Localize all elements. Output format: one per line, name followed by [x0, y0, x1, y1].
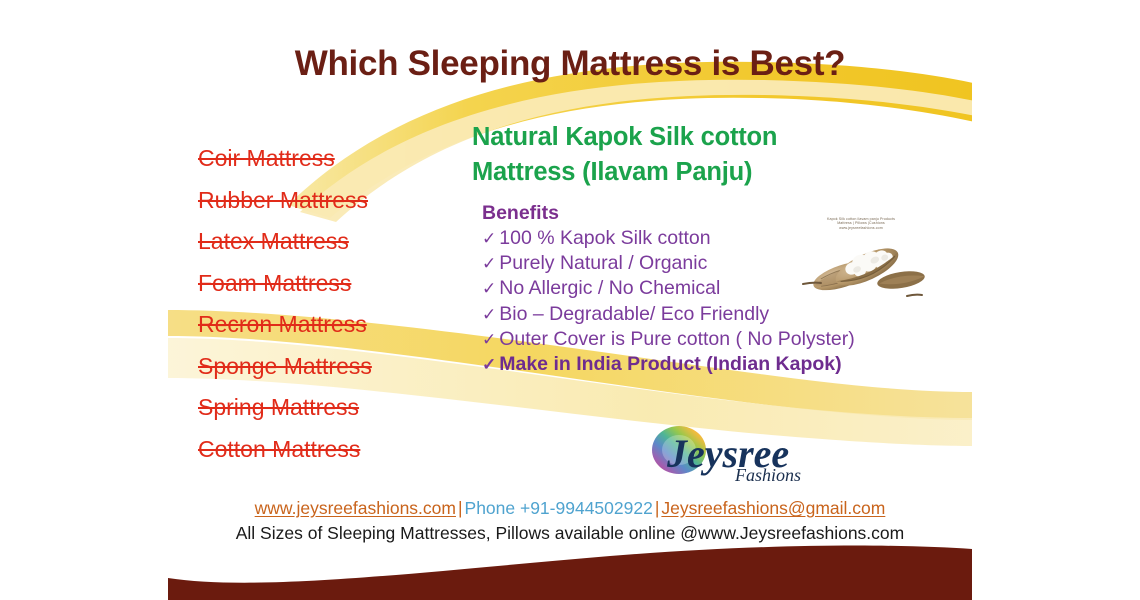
footer-contact-line: www.jeysreefashions.com|Phone +91-994450…	[168, 496, 972, 521]
footer-separator-1: |	[456, 498, 465, 518]
check-icon: ✓	[482, 352, 496, 377]
jeysree-fashions-logo: Jeysree Fashions	[643, 423, 853, 485]
website-link[interactable]: www.jeysreefashions.com	[255, 498, 456, 518]
benefit-label: Outer Cover is Pure cotton ( No Polyster…	[499, 327, 854, 352]
product-heading: Natural Kapok Silk cotton Mattress (Ilav…	[472, 120, 942, 190]
poster-canvas: Which Sleeping Mattress is Best? Coir Ma…	[0, 0, 1140, 600]
footer: www.jeysreefashions.com|Phone +91-994450…	[168, 496, 972, 546]
list-item: Rubber Mattress	[198, 180, 448, 222]
rejected-mattress-list: Coir Mattress Rubber Mattress Latex Matt…	[198, 138, 448, 470]
check-icon: ✓	[482, 302, 496, 327]
check-icon: ✓	[482, 251, 496, 276]
benefit-label: 100 % Kapok Silk cotton	[499, 226, 710, 251]
email-link[interactable]: Jeysreefashions@gmail.com	[661, 498, 885, 518]
benefit-item: ✓ Make in India Product (Indian Kapok)	[482, 352, 942, 377]
list-item: Coir Mattress	[198, 138, 448, 180]
list-item: Cotton Mattress	[198, 429, 448, 471]
benefit-label: No Allergic / No Chemical	[499, 276, 720, 301]
benefit-label: Make in India Product (Indian Kapok)	[499, 352, 841, 377]
check-icon: ✓	[482, 226, 496, 251]
footer-tagline: All Sizes of Sleeping Mattresses, Pillow…	[168, 521, 972, 546]
phone-number: Phone +91-9944502922	[465, 498, 653, 518]
photo-watermark-caption: Kapok Silk cotton ilavam panju Products …	[801, 217, 921, 230]
benefit-item: ✓ Outer Cover is Pure cotton ( No Polyst…	[482, 327, 942, 352]
list-item: Recron Mattress	[198, 304, 448, 346]
list-item: Foam Mattress	[198, 263, 448, 305]
product-heading-line2: Mattress (Ilavam Panju)	[472, 155, 942, 190]
product-heading-line1: Natural Kapok Silk cotton	[472, 120, 942, 155]
list-item: Sponge Mattress	[198, 346, 448, 388]
bottom-maroon-wave	[168, 546, 972, 600]
check-icon: ✓	[482, 276, 496, 301]
list-item: Latex Mattress	[198, 221, 448, 263]
photo-caption-line3: www.jeysreefashions.com	[801, 226, 921, 230]
logo-subbrand-text: Fashions	[734, 465, 801, 485]
benefit-label: Bio – Degradable/ Eco Friendly	[499, 302, 769, 327]
poster-title: Which Sleeping Mattress is Best?	[168, 44, 972, 84]
list-item: Spring Mattress	[198, 387, 448, 429]
check-icon: ✓	[482, 327, 496, 352]
benefit-label: Purely Natural / Organic	[499, 251, 707, 276]
